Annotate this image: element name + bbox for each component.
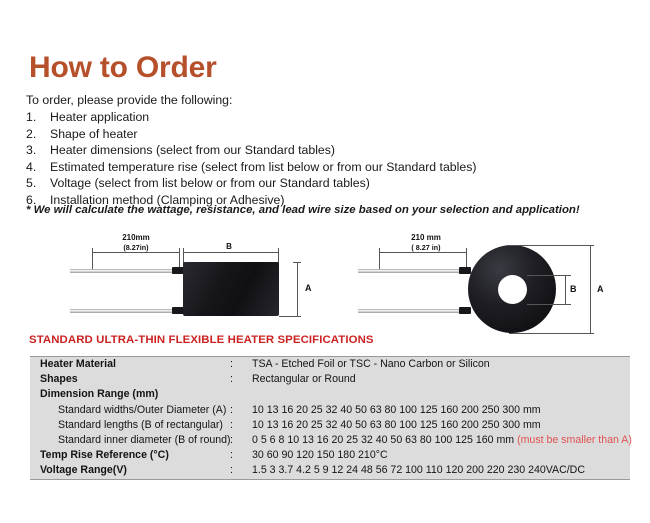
round-heater-inner-hole bbox=[498, 275, 527, 304]
rect-lead-wire-top bbox=[70, 269, 185, 273]
footnote-text: * We will calculate the wattage, resista… bbox=[26, 204, 580, 216]
round-outer-tick-bottom bbox=[586, 333, 594, 334]
page-root: How to Order To order, please provide th… bbox=[0, 0, 650, 523]
spec-row-value: 30 60 90 120 150 180 210°C bbox=[252, 449, 388, 461]
spec-row-value: TSA - Etched Foil or TSC - Nano Carbon o… bbox=[252, 358, 490, 370]
table-row: Standard inner diameter (B of round) : 0… bbox=[30, 433, 630, 448]
spec-row-colon: : bbox=[230, 404, 233, 416]
list-item: 3. Heater dimensions (select from our St… bbox=[26, 143, 626, 160]
spec-row-value-text: 0 5 6 8 10 13 16 20 25 32 40 50 63 80 10… bbox=[252, 434, 514, 446]
spec-row-colon: : bbox=[230, 449, 233, 461]
list-item-label: Heater application bbox=[50, 110, 149, 124]
round-lead-wire-bottom bbox=[358, 309, 471, 313]
round-inner-tick-bottom bbox=[561, 304, 569, 305]
list-item-number: 3. bbox=[26, 143, 44, 157]
heater-diagrams: 210mm (8.27in) B bbox=[0, 228, 650, 338]
round-lead-length-label: 210 mm ( 8.27 in) bbox=[383, 233, 469, 252]
spec-row-colon: : bbox=[230, 464, 233, 476]
list-item-label: Estimated temperature rise (select from … bbox=[50, 160, 476, 174]
spec-row-colon: : bbox=[230, 419, 233, 431]
spec-row-warning: (must be smaller than A) bbox=[514, 434, 632, 446]
spec-row-value: 10 13 16 20 25 32 40 50 63 80 100 125 16… bbox=[252, 404, 541, 416]
rect-height-label: A bbox=[305, 283, 312, 293]
rect-lead-length-label: 210mm (8.27in) bbox=[96, 233, 176, 252]
spec-row-value: 1.5 3 3.7 4.2 5 9 12 24 48 56 72 100 110… bbox=[252, 464, 585, 476]
round-connector-bottom bbox=[459, 307, 471, 314]
list-item: 4. Estimated temperature rise (select fr… bbox=[26, 160, 626, 177]
list-item: 1. Heater application bbox=[26, 110, 626, 127]
spec-row-label: Standard widths/Outer Diameter (A) bbox=[58, 404, 226, 416]
list-item-label: Voltage (select from list below or from … bbox=[50, 176, 370, 190]
rect-height-tick-top bbox=[293, 262, 301, 263]
table-row: Shapes : Rectangular or Round bbox=[30, 372, 630, 387]
table-row: Dimension Range (mm) bbox=[30, 387, 630, 402]
spec-row-label: Dimension Range (mm) bbox=[40, 388, 158, 400]
spec-row-colon: : bbox=[230, 434, 233, 446]
spec-table: Heater Material : TSA - Etched Foil or T… bbox=[30, 356, 630, 480]
round-lead-in: ( 8.27 in) bbox=[411, 243, 440, 252]
round-outer-tick-top bbox=[586, 245, 594, 246]
round-lead-wire-top bbox=[358, 269, 471, 273]
list-item: 5. Voltage (select from list below or fr… bbox=[26, 176, 626, 193]
list-item-label: Shape of heater bbox=[50, 127, 138, 141]
rect-width-dim-line bbox=[183, 252, 279, 253]
round-outer-dim-line bbox=[590, 245, 591, 333]
page-title: How to Order bbox=[29, 51, 217, 85]
rect-lead-dim-line bbox=[92, 252, 180, 253]
spec-row-value: 0 5 6 8 10 13 16 20 25 32 40 50 63 80 10… bbox=[252, 434, 632, 446]
order-steps-list: 1. Heater application 2. Shape of heater… bbox=[26, 110, 626, 210]
table-row: Voltage Range(V) : 1.5 3 3.7 4.2 5 9 12 … bbox=[30, 463, 630, 478]
list-item-number: 4. bbox=[26, 160, 44, 174]
rect-width-label: B bbox=[180, 242, 278, 252]
rect-lead-mm: 210mm bbox=[122, 233, 150, 242]
round-inner-dim-line bbox=[565, 275, 566, 304]
rect-lead-in: (8.27in) bbox=[123, 243, 148, 252]
rect-lead-ext-left bbox=[92, 252, 93, 270]
round-outer-ext-bottom bbox=[509, 333, 594, 334]
round-lead-dim-line bbox=[379, 252, 467, 253]
round-lead-mm: 210 mm bbox=[411, 233, 441, 242]
spec-row-value: 10 13 16 20 25 32 40 50 63 80 100 125 16… bbox=[252, 419, 541, 431]
spec-row-label: Standard inner diameter (B of round) bbox=[58, 434, 231, 446]
round-inner-label: B bbox=[570, 284, 577, 294]
spec-row-label: Heater Material bbox=[40, 358, 116, 370]
round-outer-label: A bbox=[597, 284, 604, 294]
intro-text: To order, please provide the following: bbox=[26, 93, 232, 107]
spec-row-label: Shapes bbox=[40, 373, 78, 385]
list-item-number: 5. bbox=[26, 176, 44, 190]
round-outer-ext-top bbox=[509, 245, 594, 246]
list-item-number: 1. bbox=[26, 110, 44, 124]
spec-row-value: Rectangular or Round bbox=[252, 373, 356, 385]
rect-lead-wire-bottom bbox=[70, 309, 185, 313]
spec-row-label: Standard lengths (B of rectangular) bbox=[58, 419, 223, 431]
spec-row-label: Voltage Range(V) bbox=[40, 464, 127, 476]
rect-height-ext-bottom bbox=[279, 316, 301, 317]
list-item: 2. Shape of heater bbox=[26, 127, 626, 144]
list-item-label: Heater dimensions (select from our Stand… bbox=[50, 143, 335, 157]
table-row: Standard lengths (B of rectangular) : 10… bbox=[30, 418, 630, 433]
spec-row-colon: : bbox=[230, 358, 233, 370]
table-row: Standard widths/Outer Diameter (A) : 10 … bbox=[30, 403, 630, 418]
rect-height-dim-line bbox=[297, 262, 298, 316]
round-lead-ext-left bbox=[379, 252, 380, 270]
table-row: Heater Material : TSA - Etched Foil or T… bbox=[30, 357, 630, 372]
rect-heater-body bbox=[183, 262, 279, 316]
round-connector-top bbox=[459, 267, 471, 274]
table-row: Temp Rise Reference (°C) : 30 60 90 120 … bbox=[30, 448, 630, 463]
round-inner-tick-top bbox=[561, 275, 569, 276]
spec-row-colon: : bbox=[230, 373, 233, 385]
spec-section-heading: STANDARD ULTRA-THIN FLEXIBLE HEATER SPEC… bbox=[29, 334, 374, 346]
list-item-number: 2. bbox=[26, 127, 44, 141]
spec-row-label: Temp Rise Reference (°C) bbox=[40, 449, 169, 461]
